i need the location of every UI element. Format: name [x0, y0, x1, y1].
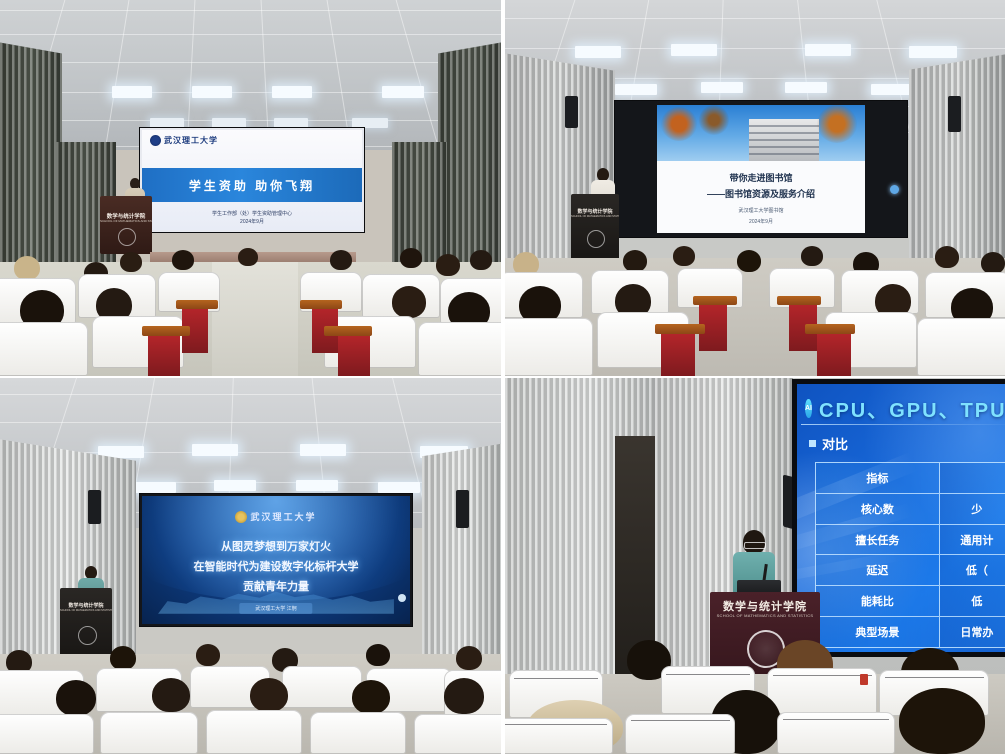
- ceiling-lamp: [909, 46, 957, 58]
- university-seal-icon: [150, 135, 161, 146]
- slide-line3: 贡献青年力量: [142, 578, 410, 594]
- ceiling-lamp: [296, 480, 338, 491]
- ceiling-lamp: [192, 86, 232, 98]
- ai-brain-icon: AI: [805, 399, 812, 418]
- podium-emblem-icon: [118, 228, 136, 246]
- ceiling-lamp: [300, 444, 346, 456]
- curtain-right-tl: [438, 42, 501, 278]
- seminar-room-scene-tr: 带你走进图书馆 ——图书馆资源及服务介绍 武汉理工大学图书馆 2024年9月 数…: [505, 0, 1005, 376]
- panel-bottom-left[interactable]: 武汉理工大学 从图灵梦想到万家灯火 在智能时代为建设数字化标杆大学 贡献青年力量…: [0, 378, 501, 754]
- slide-title: 学生资助 助你飞翔: [142, 177, 362, 194]
- slide-title-band: 学生资助 助你飞翔: [142, 168, 362, 202]
- ceiling-lamp: [871, 84, 913, 95]
- glasses-icon: [744, 542, 766, 549]
- seat: [917, 318, 1005, 376]
- seat: [0, 714, 94, 754]
- ceiling-lamp: [805, 44, 851, 56]
- slide-date: 2024年9月: [657, 218, 865, 225]
- screen-indicator-icon: [398, 594, 406, 602]
- seat: [100, 712, 198, 754]
- slide-bullet: 对比: [809, 434, 848, 453]
- seat: [777, 712, 895, 754]
- tree-icon: [817, 105, 857, 143]
- seat: [414, 714, 501, 754]
- library-building-photo: [749, 119, 820, 161]
- slide-tl: 武汉理工大学 学生资助 助你飞翔 学生工作部（处）学生资助管理中心 2024年9…: [142, 130, 362, 230]
- slide-org: 武汉理工大学图书馆: [657, 207, 865, 214]
- podium-sublabel-tl: SCHOOL OF MATHEMATICS AND STATISTICS: [100, 219, 152, 223]
- slide-title: 带你走进图书馆: [657, 171, 865, 184]
- table-cell-value: 低: [940, 586, 1005, 616]
- ceiling-lamp: [150, 118, 184, 128]
- slide-line1: 从图灵梦想到万家灯火: [142, 538, 410, 554]
- slide-footer-org: 学生工作部（处）学生资助管理中心: [142, 210, 362, 217]
- table-row: 擅长任务 通用计: [816, 525, 1005, 556]
- seat: [0, 322, 88, 376]
- ceiling-lamp: [192, 444, 238, 456]
- slide-bullet-label: 对比: [822, 434, 848, 453]
- ceiling-lamp: [274, 118, 308, 128]
- wall-speaker-left-bl: [88, 490, 101, 524]
- podium-label-br: 数学与统计学院: [710, 598, 820, 614]
- ceiling-lamp: [134, 482, 176, 493]
- screen-indicator-icon: [890, 185, 899, 194]
- projection-screen-bl[interactable]: 武汉理工大学 从图灵梦想到万家灯火 在智能时代为建设数字化标杆大学 贡献青年力量…: [140, 494, 412, 626]
- table-cell-label: 擅长任务: [816, 525, 940, 555]
- table-cell-label: 延迟: [816, 555, 940, 585]
- table-row: 典型场景 日常办: [816, 617, 1005, 647]
- projection-screen-tr[interactable]: 带你走进图书馆 ——图书馆资源及服务介绍 武汉理工大学图书馆 2024年9月: [615, 101, 907, 237]
- podium-sublabel-bl: SCHOOL OF MATHEMATICS AND STATISTICS: [60, 609, 112, 612]
- ceiling-lamp: [575, 46, 621, 58]
- bullet-square-icon: [809, 440, 816, 447]
- wall-speaker-right-tr: [948, 96, 961, 132]
- seat: [418, 322, 501, 376]
- podium-sublabel-tr: SCHOOL OF MATHEMATICS AND STATISTICS: [571, 215, 619, 218]
- grid-divider-horizontal: [0, 376, 1005, 378]
- curtain-left-tl: [0, 43, 62, 279]
- lecture-hall-scene-tl: 武汉理工大学 学生资助 助你飞翔 学生工作部（处）学生资助管理中心 2024年9…: [0, 0, 501, 376]
- table-cell-label: 典型场景: [816, 617, 940, 647]
- seat: [505, 718, 613, 754]
- podium-tl: 数学与统计学院 SCHOOL OF MATHEMATICS AND STATIS…: [100, 196, 152, 254]
- podium-bl: 数学与统计学院 SCHOOL OF MATHEMATICS AND STATIS…: [60, 588, 112, 660]
- podium-label-tr: 数学与统计学院: [571, 208, 619, 215]
- ceiling-lamp: [112, 86, 152, 98]
- wall-speaker-left-tr: [565, 96, 578, 128]
- table-cell-label: 能耗比: [816, 586, 940, 616]
- table-row: 延迟 低（: [816, 555, 1005, 586]
- table-cell-value: [940, 463, 1005, 493]
- slide-university-name: 武汉理工大学: [250, 510, 316, 523]
- ceiling-lamp: [214, 480, 256, 491]
- podium-emblem-icon: [78, 626, 97, 645]
- comparison-table-br: 指标 核心数 少 擅长任务 通用计 延迟 低（: [815, 462, 1005, 648]
- podium-emblem-icon: [587, 230, 605, 248]
- table-cell-value: 少: [940, 494, 1005, 524]
- ceiling-lamp: [212, 118, 246, 128]
- slide-line2: 在智能时代为建设数字化标杆大学: [142, 558, 410, 574]
- projection-screen-tl[interactable]: 武汉理工大学 学生资助 助你飞翔 学生工作部（处）学生资助管理中心 2024年9…: [140, 128, 364, 232]
- seat: [625, 714, 735, 754]
- seat: [206, 710, 302, 754]
- bottle-icon: [860, 674, 868, 685]
- ceiling-lamp: [615, 84, 657, 95]
- university-seal-icon: [235, 511, 247, 523]
- slide-footer-date: 2024年9月: [142, 218, 362, 225]
- seminar-room-scene-br: AI CPU、GPU、TPU之 对比 指标 核心: [505, 378, 1005, 754]
- curtain-right2-tl: [392, 142, 447, 262]
- slide-title: CPU、GPU、TPU之: [819, 394, 1005, 423]
- podium-label-bl: 数学与统计学院: [60, 602, 112, 609]
- tree-icon: [699, 105, 729, 135]
- table-cell-value: 日常办: [940, 617, 1005, 647]
- ceiling-lamp: [785, 82, 827, 93]
- panel-top-left[interactable]: 武汉理工大学 学生资助 助你飞翔 学生工作部（处）学生资助管理中心 2024年9…: [0, 0, 501, 376]
- slide-subtitle: ——图书馆资源及服务介绍: [657, 187, 865, 200]
- photo-collage: 武汉理工大学 学生资助 助你飞翔 学生工作部（处）学生资助管理中心 2024年9…: [0, 0, 1005, 754]
- slide-university-name: 武汉理工大学: [164, 135, 218, 146]
- ceiling-lamp: [382, 86, 424, 98]
- slide-bl: 武汉理工大学 从图灵梦想到万家灯火 在智能时代为建设数字化标杆大学 贡献青年力量…: [142, 496, 410, 624]
- panel-top-right[interactable]: 带你走进图书馆 ——图书馆资源及服务介绍 武汉理工大学图书馆 2024年9月 数…: [505, 0, 1005, 376]
- ceiling-lamp: [352, 118, 388, 128]
- aisle-tl: [212, 262, 298, 376]
- slide-tr: 带你走进图书馆 ——图书馆资源及服务介绍 武汉理工大学图书馆 2024年9月: [657, 105, 865, 233]
- seat: [282, 666, 362, 708]
- table-row: 核心数 少: [816, 494, 1005, 525]
- slide-br: AI CPU、GPU、TPU之 对比 指标 核心: [797, 384, 1005, 652]
- table-cell-value: 通用计: [940, 525, 1005, 555]
- table-row: 指标: [816, 463, 1005, 494]
- ceiling-lamp: [378, 482, 420, 493]
- podium-sublabel-br: SCHOOL OF MATHEMATICS AND STATISTICS: [710, 613, 820, 618]
- tree-icon: [661, 107, 697, 141]
- slide-speaker-tag: 武汉理工大学 江舸: [239, 603, 312, 614]
- display-screen-br[interactable]: AI CPU、GPU、TPU之 对比 指标 核心: [793, 380, 1005, 656]
- seat: [505, 318, 593, 376]
- table-cell-label: 指标: [816, 463, 940, 493]
- table-cell-value: 低（: [940, 555, 1005, 585]
- wall-speaker-right-bl: [456, 490, 469, 528]
- table-row: 能耗比 低: [816, 586, 1005, 617]
- podium-tr: 数学与统计学院 SCHOOL OF MATHEMATICS AND STATIS…: [571, 194, 619, 264]
- ceiling-lamp: [671, 44, 717, 56]
- slide-photo: [657, 105, 865, 161]
- table-cell-label: 核心数: [816, 494, 940, 524]
- ceiling-lamp: [272, 86, 312, 98]
- panel-bottom-right[interactable]: AI CPU、GPU、TPU之 对比 指标 核心: [505, 378, 1005, 754]
- ceiling-lamp: [701, 82, 743, 93]
- seminar-room-scene-bl: 武汉理工大学 从图灵梦想到万家灯火 在智能时代为建设数字化标杆大学 贡献青年力量…: [0, 378, 501, 754]
- seat: [310, 712, 406, 754]
